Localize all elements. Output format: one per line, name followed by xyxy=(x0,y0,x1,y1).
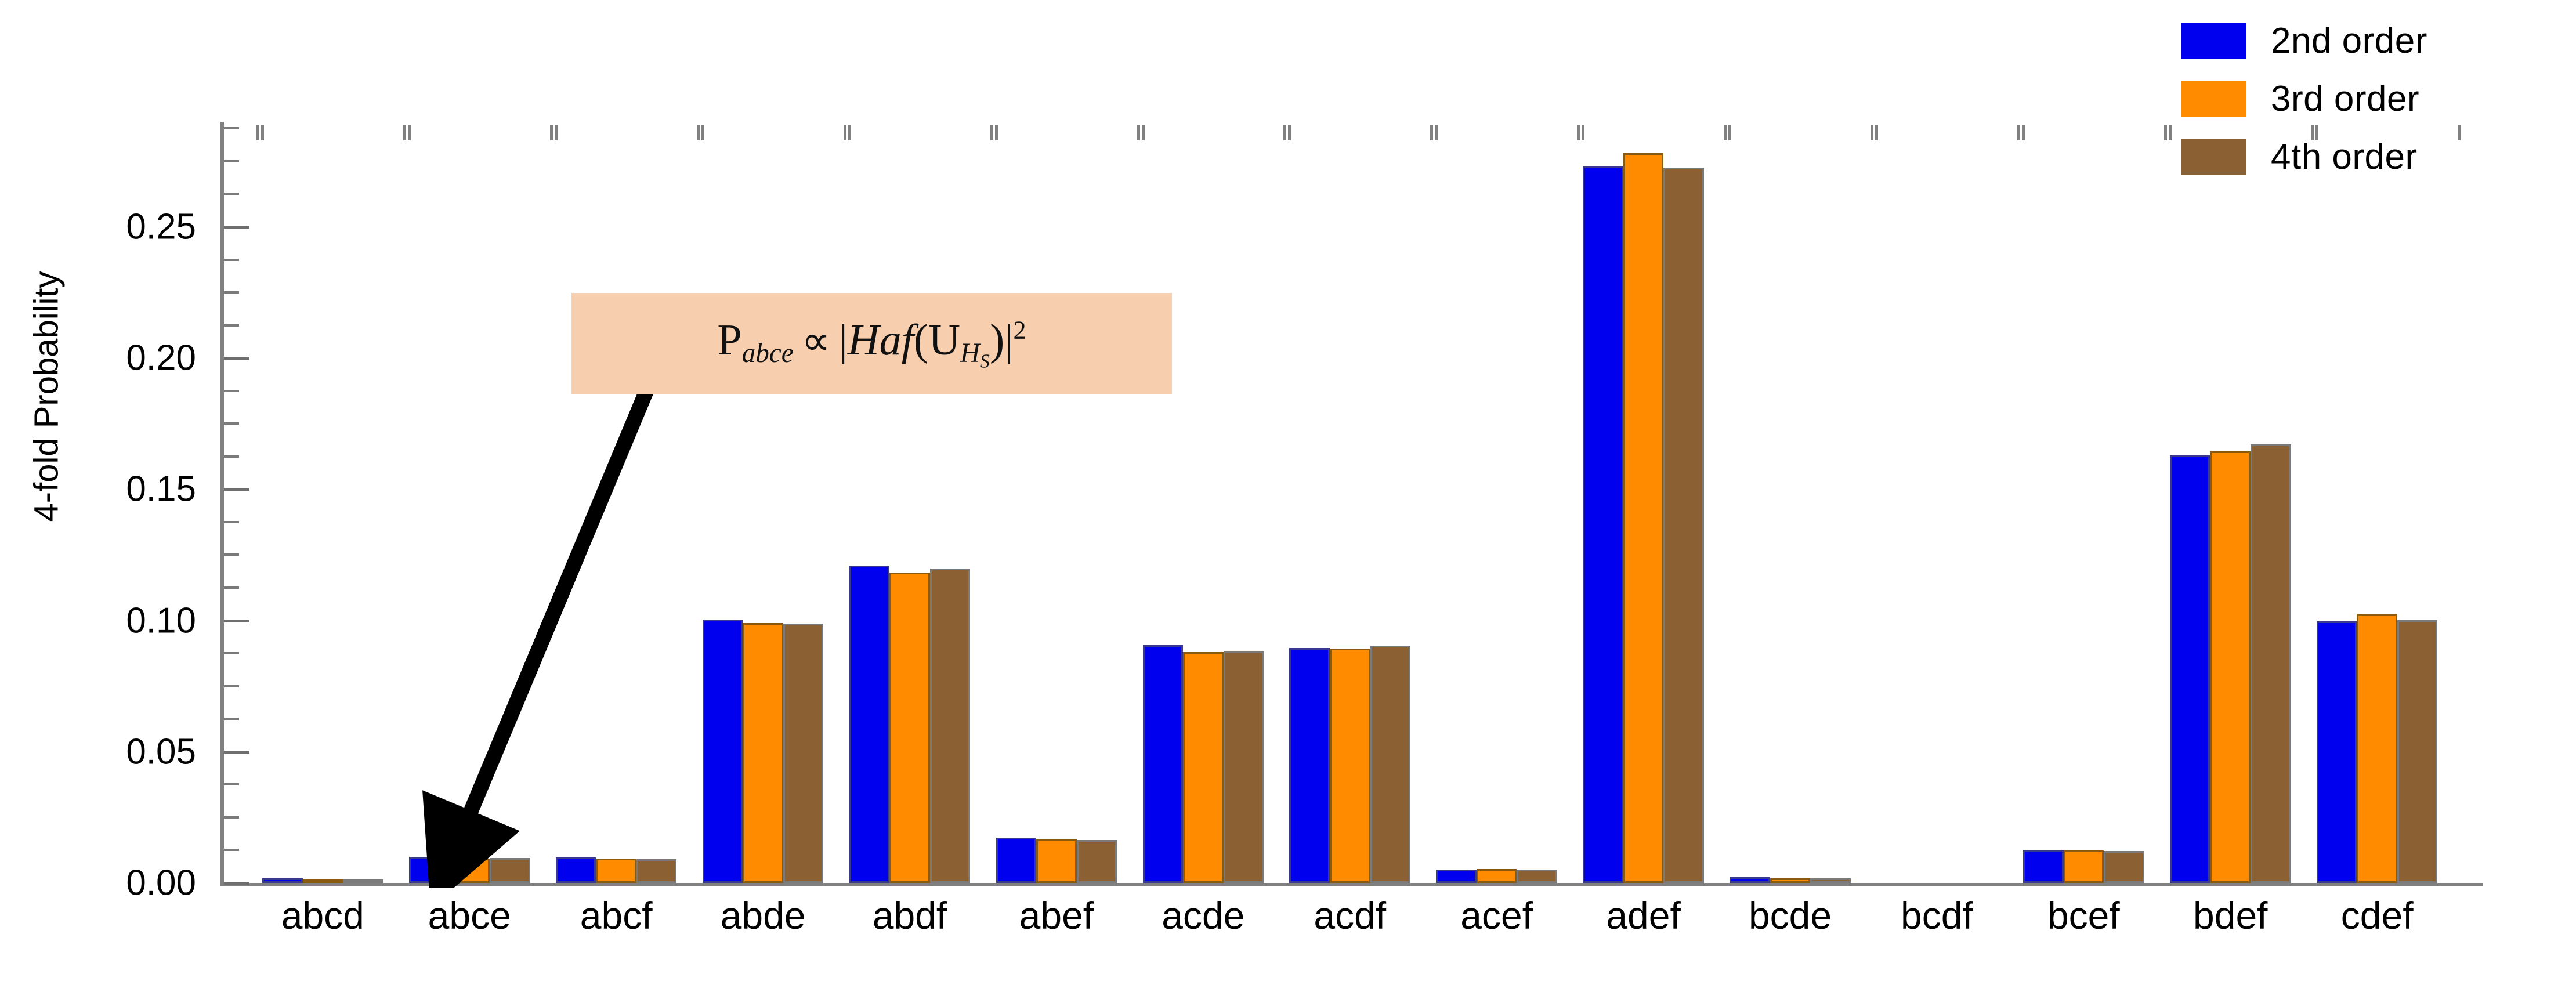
x-tick-label-acef: acef xyxy=(1460,893,1533,937)
x-tick-label-acdf: acdf xyxy=(1314,893,1386,937)
bar-group[interactable] xyxy=(1289,122,1410,883)
bar-adef-2nd-order[interactable] xyxy=(1583,166,1623,883)
x-tick-label-bcef: bcef xyxy=(2047,893,2120,937)
y-tick-label: 0.25 xyxy=(126,206,196,247)
legend-swatch-2nd-order xyxy=(2181,23,2246,59)
bar-abde-2nd-order[interactable] xyxy=(703,620,743,883)
y-tick-label: 0.00 xyxy=(126,863,196,904)
bar-group[interactable] xyxy=(1143,122,1264,883)
x-tick xyxy=(403,125,406,140)
y-tick-label: 0.10 xyxy=(126,600,196,641)
legend-item-3rd-order[interactable]: 3rd order xyxy=(2181,81,2427,117)
formula-bar-open: | xyxy=(839,316,848,364)
formula-u-subsubscript: S xyxy=(980,350,990,372)
bar-group[interactable] xyxy=(849,122,971,883)
x-tick-label-abde: abde xyxy=(721,893,806,937)
bar-group[interactable] xyxy=(262,122,383,883)
bar-group[interactable] xyxy=(1436,122,1557,883)
x-tick-label-bdef: bdef xyxy=(2193,893,2267,937)
bar-bcde-4th-order[interactable] xyxy=(1810,878,1851,883)
formula-exponent: 2 xyxy=(1014,316,1026,344)
bar-abdf-3rd-order[interactable] xyxy=(889,573,930,883)
x-tick xyxy=(1728,125,1731,140)
bar-abdf-2nd-order[interactable] xyxy=(849,566,890,883)
bar-group[interactable] xyxy=(1876,122,1998,883)
x-tick-end xyxy=(2458,125,2461,140)
x-tick xyxy=(1142,125,1145,140)
legend-label-3rd-order: 3rd order xyxy=(2271,81,2419,117)
bar-cdef-4th-order[interactable] xyxy=(2397,620,2438,883)
bar-abdf-4th-order[interactable] xyxy=(930,569,971,883)
annotation-box: Pabce∝|Haf(UHS)|2 xyxy=(571,293,1172,394)
bar-acdf-2nd-order[interactable] xyxy=(1289,648,1330,883)
bar-adef-3rd-order[interactable] xyxy=(1623,153,1664,883)
x-axis-tick-labels: abcdabceabcfabdeabdfabefacdeacdfacefadef… xyxy=(220,893,2483,946)
x-tick xyxy=(408,125,411,140)
bar-abef-3rd-order[interactable] xyxy=(1036,839,1077,883)
bar-abde-4th-order[interactable] xyxy=(783,624,824,883)
bar-acde-4th-order[interactable] xyxy=(1224,651,1264,883)
x-tick xyxy=(261,125,264,140)
formula-p-subscript: abce xyxy=(742,338,794,368)
bar-group[interactable] xyxy=(1730,122,1851,883)
x-tick xyxy=(1724,125,1727,140)
x-tick xyxy=(2017,125,2020,140)
x-tick xyxy=(848,125,851,140)
bar-group[interactable] xyxy=(703,122,824,883)
y-tick-label: 0.15 xyxy=(126,469,196,510)
y-axis-tick-labels: 0.000.050.100.150.200.25 xyxy=(0,122,209,886)
x-tick-label-acde: acde xyxy=(1162,893,1244,937)
y-tick-label: 0.05 xyxy=(126,731,196,772)
bar-acdf-3rd-order[interactable] xyxy=(1330,649,1370,883)
bar-cdef-3rd-order[interactable] xyxy=(2357,614,2397,883)
bar-acdf-4th-order[interactable] xyxy=(1370,646,1411,883)
legend-swatch-3rd-order xyxy=(2181,81,2246,117)
bar-group[interactable] xyxy=(2317,122,2438,883)
bar-bcde-2nd-order[interactable] xyxy=(1730,877,1770,883)
x-tick xyxy=(1137,125,1140,140)
bar-acde-3rd-order[interactable] xyxy=(1183,652,1224,883)
x-tick-label-cdef: cdef xyxy=(2341,893,2414,937)
x-tick xyxy=(2022,125,2025,140)
bar-bcef-2nd-order[interactable] xyxy=(2023,850,2064,883)
x-tick xyxy=(1875,125,1878,140)
formula-proportional-icon: ∝ xyxy=(794,319,839,364)
x-tick xyxy=(1283,125,1286,140)
legend-item-2nd-order[interactable]: 2nd order xyxy=(2181,23,2427,59)
x-tick xyxy=(1577,125,1580,140)
x-tick-label-abce: abce xyxy=(428,893,511,937)
x-tick xyxy=(701,125,704,140)
x-tick xyxy=(1288,125,1291,140)
bar-adef-4th-order[interactable] xyxy=(1663,168,1704,883)
x-tick xyxy=(555,125,558,140)
x-tick xyxy=(256,125,259,140)
x-tick-label-bcde: bcde xyxy=(1749,893,1832,937)
bar-group[interactable] xyxy=(996,122,1117,883)
x-tick xyxy=(697,125,700,140)
formula-bar-close: | xyxy=(1004,316,1013,364)
formula-paren-close: ) xyxy=(990,316,1004,364)
x-tick xyxy=(1871,125,1873,140)
bar-group[interactable] xyxy=(2023,122,2144,883)
x-tick xyxy=(2315,125,2318,140)
formula-u-subscript: H xyxy=(960,338,980,368)
bar-group[interactable] xyxy=(1583,122,1704,883)
bar-bcef-3rd-order[interactable] xyxy=(2064,850,2104,883)
x-tick xyxy=(1582,125,1584,140)
x-tick-label-bcdf: bcdf xyxy=(1901,893,1973,937)
chart-figure: 2nd order 3rd order 4th order 4-fold Pro… xyxy=(0,0,2576,992)
bar-abef-2nd-order[interactable] xyxy=(996,838,1037,883)
bar-bdef-2nd-order[interactable] xyxy=(2170,455,2210,883)
bar-bdef-4th-order[interactable] xyxy=(2251,444,2291,883)
x-tick xyxy=(1430,125,1433,140)
formula-haf: Haf xyxy=(848,316,914,364)
x-tick-label-adef: adef xyxy=(1606,893,1680,937)
x-tick xyxy=(1435,125,1438,140)
bar-bdef-3rd-order[interactable] xyxy=(2210,451,2251,883)
bar-acef-2nd-order[interactable] xyxy=(1436,870,1477,883)
x-tick-label-abdf: abdf xyxy=(873,893,947,937)
x-tick xyxy=(2311,125,2314,140)
x-tick xyxy=(2169,125,2172,140)
x-tick xyxy=(2164,125,2167,140)
x-tick-label-abcd: abcd xyxy=(281,893,364,937)
annotation-formula: Pabce∝|Haf(UHS)|2 xyxy=(717,315,1026,373)
bar-acde-2nd-order[interactable] xyxy=(1143,645,1184,883)
bar-bcef-4th-order[interactable] xyxy=(2104,851,2144,883)
x-tick xyxy=(995,125,998,140)
x-tick xyxy=(990,125,993,140)
annotation-arrow xyxy=(406,365,685,888)
formula-p: P xyxy=(717,316,741,364)
x-tick xyxy=(550,125,553,140)
bar-cdef-2nd-order[interactable] xyxy=(2317,621,2357,883)
bar-bcde-3rd-order[interactable] xyxy=(1770,878,1811,883)
bar-abef-4th-order[interactable] xyxy=(1077,840,1117,883)
y-tick-label: 0.20 xyxy=(126,338,196,379)
x-tick-label-abcf: abcf xyxy=(580,893,653,937)
legend-label-2nd-order: 2nd order xyxy=(2271,23,2427,59)
bar-abde-3rd-order[interactable] xyxy=(743,623,783,883)
formula-u: U xyxy=(928,316,960,364)
x-tick-label-abef: abef xyxy=(1019,893,1094,937)
formula-paren-open: ( xyxy=(914,316,928,364)
bar-abcd-4th-order[interactable] xyxy=(343,879,383,883)
bar-acef-3rd-order[interactable] xyxy=(1477,869,1517,883)
bar-group[interactable] xyxy=(2170,122,2291,883)
bar-abcd-2nd-order[interactable] xyxy=(262,878,303,883)
x-tick xyxy=(844,125,846,140)
bar-abcd-3rd-order[interactable] xyxy=(303,879,343,883)
bar-acef-4th-order[interactable] xyxy=(1517,870,1557,883)
